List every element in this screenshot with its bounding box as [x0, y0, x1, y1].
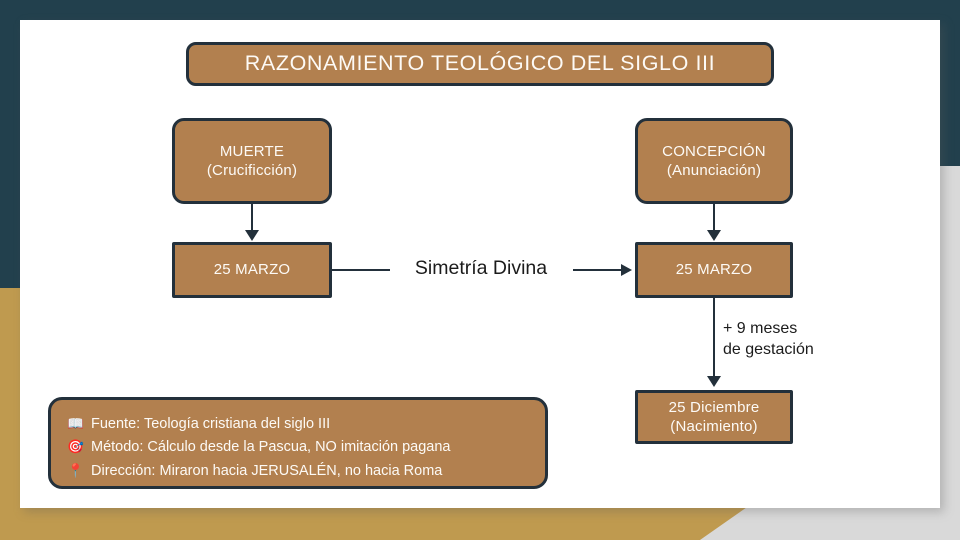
arrow-down-icon: [707, 230, 721, 241]
node-marzo-right-label: 25 MARZO: [676, 260, 753, 279]
legend-item-text: Método: Cálculo desde la Pascua, NO imit…: [91, 436, 450, 459]
label-gestacion-line2: de gestación: [723, 339, 903, 360]
node-marzo-left[interactable]: 25 MARZO: [172, 242, 332, 298]
page-title: RAZONAMIENTO TEOLÓGICO DEL SIGLO III: [245, 50, 715, 78]
connector-symmetry-left: [332, 269, 390, 271]
slide-canvas: RAZONAMIENTO TEOLÓGICO DEL SIGLO III MUE…: [0, 0, 960, 540]
target-icon: 🎯: [67, 436, 84, 458]
slide-title-banner: RAZONAMIENTO TEOLÓGICO DEL SIGLO III: [186, 42, 774, 86]
node-concepcion-line1: CONCEPCIÓN: [662, 142, 766, 161]
legend-item-text: Dirección: Miraron hacia JERUSALÉN, no h…: [91, 460, 442, 483]
node-concepcion[interactable]: CONCEPCIÓN (Anunciación): [635, 118, 793, 204]
node-diciembre-line1: 25 Diciembre: [669, 398, 760, 417]
node-muerte-line2: (Crucificción): [207, 161, 297, 180]
list-item: 🎯 Método: Cálculo desde la Pascua, NO im…: [67, 436, 545, 459]
list-item: 📖 Fuente: Teología cristiana del siglo I…: [67, 413, 545, 436]
arrow-down-icon: [245, 230, 259, 241]
connector-concepcion-to-marzo: [713, 204, 715, 232]
pin-icon: 📍: [67, 460, 84, 482]
node-diciembre-line2: (Nacimiento): [670, 417, 757, 436]
book-icon: 📖: [67, 413, 84, 435]
connector-marzo-to-diciembre: [713, 298, 715, 378]
legend-box: 📖 Fuente: Teología cristiana del siglo I…: [48, 397, 548, 489]
connector-symmetry-right: [573, 269, 623, 271]
node-marzo-left-label: 25 MARZO: [214, 260, 291, 279]
node-muerte-line1: MUERTE: [220, 142, 284, 161]
arrow-right-icon: [621, 264, 632, 276]
label-gestacion-line1: + 9 meses: [723, 318, 903, 339]
legend-item-text: Fuente: Teología cristiana del siglo III: [91, 413, 330, 436]
arrow-down-icon: [707, 376, 721, 387]
node-muerte[interactable]: MUERTE (Crucificción): [172, 118, 332, 204]
label-gestacion: + 9 meses de gestación: [723, 318, 903, 360]
connector-muerte-to-marzo: [251, 204, 253, 232]
label-simetria-divina: Simetría Divina: [392, 256, 570, 282]
list-item: 📍 Dirección: Miraron hacia JERUSALÉN, no…: [67, 460, 545, 483]
node-diciembre[interactable]: 25 Diciembre (Nacimiento): [635, 390, 793, 444]
node-marzo-right[interactable]: 25 MARZO: [635, 242, 793, 298]
node-concepcion-line2: (Anunciación): [667, 161, 761, 180]
